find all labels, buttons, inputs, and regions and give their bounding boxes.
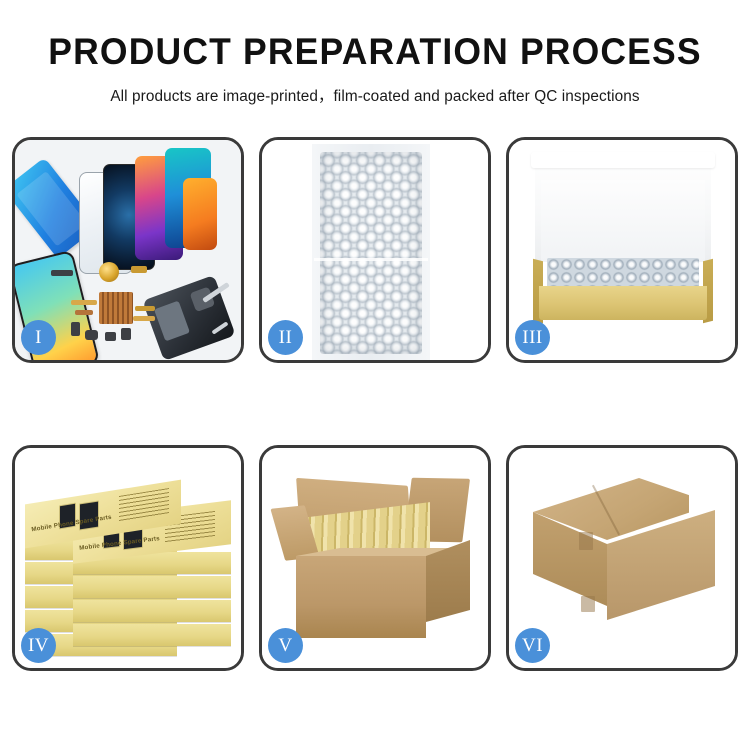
foam-sheet	[541, 180, 705, 262]
gold-component-icon	[99, 262, 119, 282]
step-panel-2: II	[259, 137, 491, 363]
carton-front	[296, 556, 426, 638]
chip-icon-1	[51, 270, 73, 276]
chip-icon-4	[71, 322, 80, 336]
page-title: PRODUCT PREPARATION PROCESS	[15, 33, 735, 70]
step-badge-3: III	[515, 320, 550, 355]
wrap-seam	[314, 258, 428, 261]
step-panel-3: III	[506, 137, 738, 363]
product-preparation-page: PRODUCT PREPARATION PROCESS All products…	[0, 0, 750, 750]
step-badge-5: V	[268, 628, 303, 663]
step-badge-4: IV	[21, 628, 56, 663]
yellow-box-r4	[73, 600, 231, 622]
chip-icon-7	[121, 328, 131, 340]
step-panel-6: VI	[506, 445, 738, 671]
step-badge-6: VI	[515, 628, 550, 663]
flex-cable-icon-1	[71, 300, 97, 305]
step-panel-1: I	[12, 137, 244, 363]
mailer-front-panel	[539, 286, 707, 320]
yellow-box-r5	[73, 624, 231, 646]
bubble-wrap-icon	[320, 152, 422, 354]
step-panel-5: V	[259, 445, 491, 671]
step-panel-4: Mobile Phone Spare Parts Mobile Phone Sp…	[12, 445, 244, 671]
chip-icon-2	[131, 266, 147, 273]
chip-icon-6	[105, 332, 116, 341]
page-header: PRODUCT PREPARATION PROCESS All products…	[0, 0, 750, 106]
carton-tape-lower	[581, 596, 595, 612]
page-subtitle: All products are image-printed，film-coat…	[4, 84, 747, 106]
carton-tape-upper	[579, 532, 593, 550]
yellow-box-r3	[73, 576, 231, 598]
orange-phone-icon	[183, 178, 217, 250]
chip-array-icon	[99, 292, 133, 324]
step-badge-1: I	[21, 320, 56, 355]
process-steps-grid: I II III	[12, 137, 738, 671]
chip-icon-3	[75, 310, 93, 315]
chip-icon-5	[85, 330, 98, 340]
mailer-lid-flap	[531, 152, 715, 168]
chip-icon-8	[135, 306, 155, 311]
step-badge-2: II	[268, 320, 303, 355]
flex-cable-icon-2	[133, 316, 155, 321]
